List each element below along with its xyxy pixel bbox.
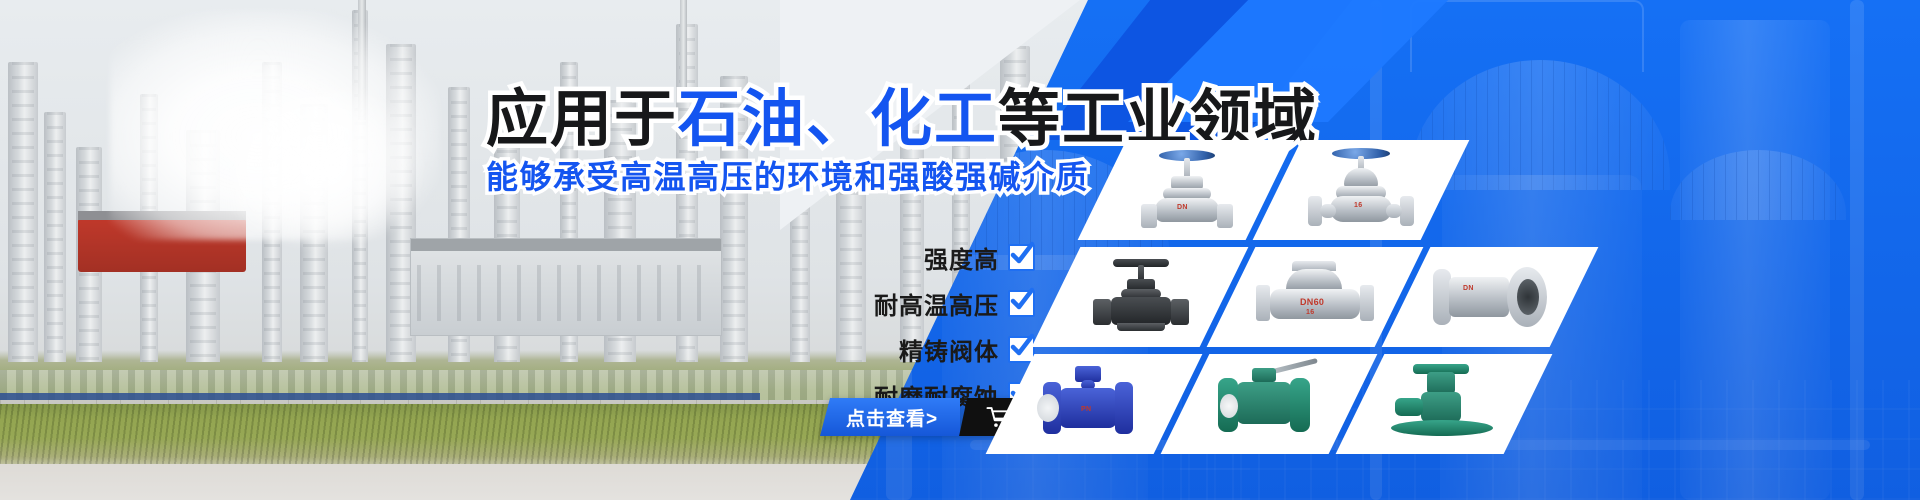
product-row: DN 16 — [1102, 140, 1445, 240]
globe-valve-silver-image: 16 — [1286, 146, 1436, 234]
view-details-button[interactable]: 点击查看> — [820, 398, 960, 436]
feature-label: 强度高 — [924, 240, 999, 275]
feature-label: 精铸阀体 — [899, 332, 999, 367]
ball-valve-green-image — [1194, 360, 1344, 448]
check-valve-silver-image: DN60 16 — [1240, 253, 1390, 341]
feature-list: 强度高 耐高温高压 精铸阀体 耐磨耐腐蚀 — [770, 240, 1035, 413]
gate-valve-silver-image: DN — [1111, 146, 1261, 234]
ball-valve-blue-image: PN — [1019, 360, 1169, 448]
page-subtitle: 能够承受高温高压的环境和强酸强碱介质 — [486, 152, 1089, 198]
promo-banner: 应用于石油、化工等工业领域 能够承受高温高压的环境和强酸强碱介质 强度高 耐高温… — [0, 0, 1920, 500]
product-row: DN60 16 DN — [1056, 247, 1574, 347]
feature-label: 耐高温高压 — [874, 286, 999, 321]
discharge-valve-green-image — [1369, 360, 1519, 448]
wafer-valve-silver-image: DN — [1415, 253, 1565, 341]
product-row: PN — [1010, 354, 1528, 454]
headline-prefix: 应用于 — [486, 85, 678, 154]
headline-highlight: 石油、化工 — [678, 85, 998, 154]
product-grid: DN 16 — [1010, 140, 1570, 490]
gate-valve-dark-image — [1065, 253, 1215, 341]
